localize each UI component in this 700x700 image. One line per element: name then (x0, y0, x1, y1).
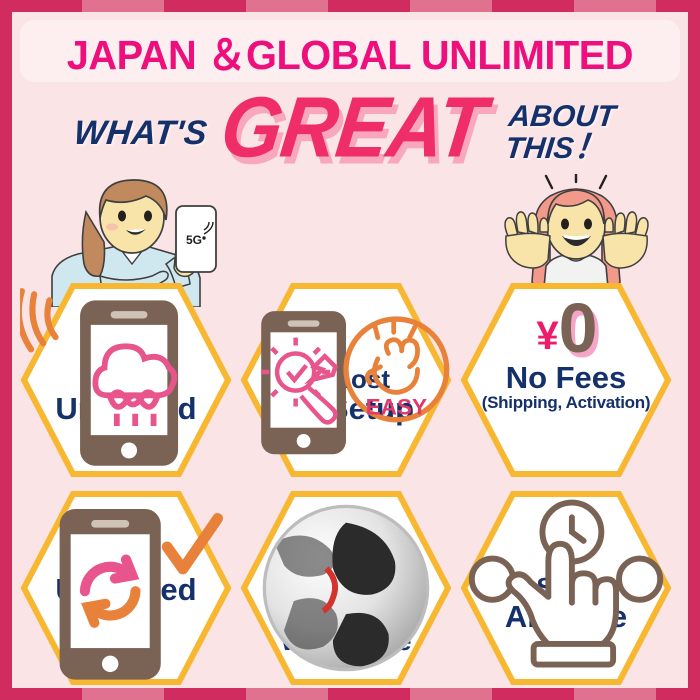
phone-gear-easy-icon: EASY (240, 296, 452, 364)
svg-text:5G: 5G (186, 233, 202, 247)
phone-infinity-wifi-icon (20, 296, 232, 364)
headline-great: GREAT (216, 77, 491, 177)
stripe-segment (0, 0, 82, 12)
card-available-japan-worldwide[interactable]: 191 Regions Available in Japan Worldwide (240, 490, 452, 686)
stripe-segment (0, 688, 82, 700)
poster-root: JAPAN ＆GLOBAL UNLIMITED WHAT'S GREAT ABO… (0, 0, 700, 700)
page-title: JAPAN ＆GLOBAL UNLIMITED (67, 21, 633, 81)
zero-digit: 0 (559, 293, 596, 363)
left-border-bar (0, 0, 12, 700)
headline-group: WHAT'S GREAT ABOUT THIS！ (12, 86, 688, 178)
poster-canvas: JAPAN ＆GLOBAL UNLIMITED WHAT'S GREAT ABO… (12, 12, 688, 688)
stripe-segment (574, 0, 656, 12)
stripe-segment (246, 688, 328, 700)
stripe-segment (410, 688, 492, 700)
regions-badge: 191 Regions (307, 500, 384, 570)
stripe-segment (246, 0, 328, 12)
stripe-segment (410, 0, 492, 12)
card-subtext: (Shipping, Activation) (482, 394, 650, 412)
globe-icon (240, 490, 452, 686)
yen-symbol: ¥ (536, 316, 558, 356)
stripe-segment (328, 688, 410, 700)
phone-refresh-check-icon (20, 504, 232, 572)
stripe-segment (164, 0, 246, 12)
stripe-segment (82, 0, 164, 12)
card-label: No Fees (Shipping, Activation) (482, 362, 650, 412)
stripe-segment (164, 688, 246, 700)
card-almost-no-setup[interactable]: EASY Almost No Setup (240, 282, 452, 478)
bottom-stripe-border (0, 688, 700, 700)
top-stripe-border (0, 0, 700, 12)
yen-zero-icon: ¥ 0 (536, 296, 595, 364)
headline-about-line2: THIS！ (504, 131, 614, 163)
stripe-segment (492, 0, 574, 12)
card-start-anytime[interactable]: Start Anytime (460, 490, 672, 686)
headline-about-this: ABOUT THIS！ (504, 102, 617, 164)
card-no-fees[interactable]: ¥ 0 No Fees (Shipping, Activation) (460, 282, 672, 478)
card-data-unlimited[interactable]: Data Unlimited (20, 282, 232, 478)
stripe-segment (492, 688, 574, 700)
title-plate: JAPAN ＆GLOBAL UNLIMITED (20, 20, 680, 82)
stripe-segment (574, 688, 656, 700)
stripe-segment (82, 688, 164, 700)
right-border-bar (688, 0, 700, 700)
headline-whats: WHAT'S (72, 114, 209, 153)
stripe-segment (328, 0, 410, 12)
easy-badge-label: EASY (366, 394, 427, 419)
card-unlimited-use[interactable]: Unlimited Use (20, 490, 232, 686)
hand-tap-clock-icon (460, 504, 672, 572)
